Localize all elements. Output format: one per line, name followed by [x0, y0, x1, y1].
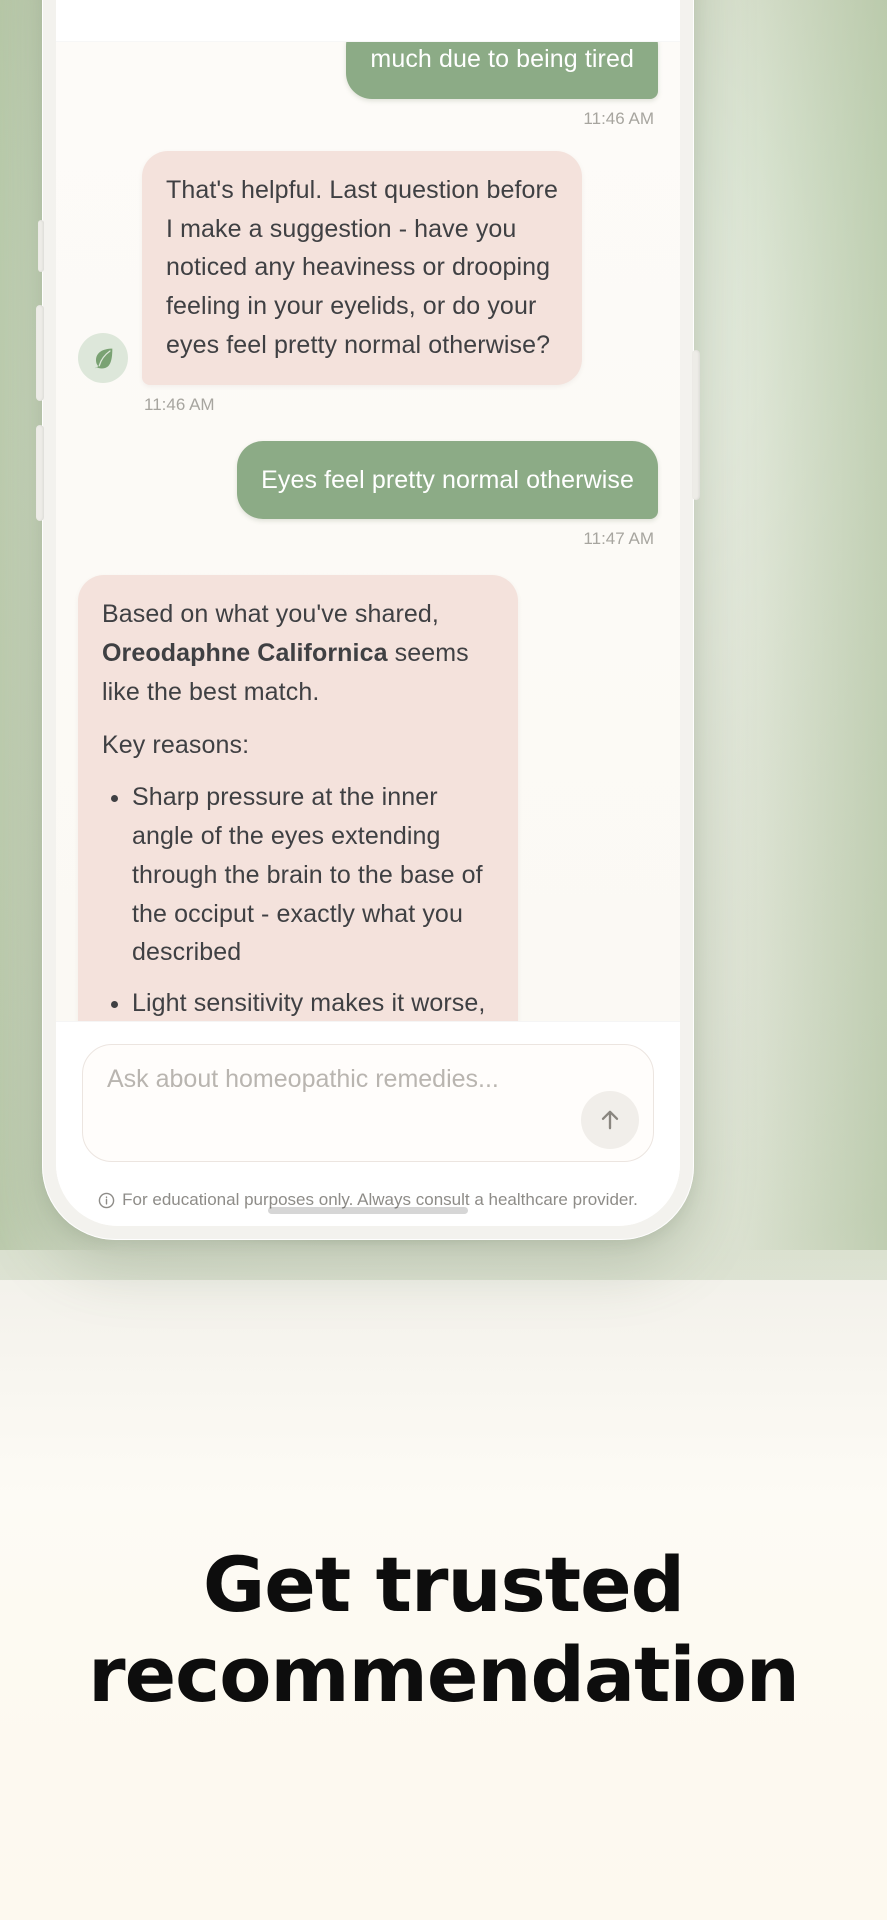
phone-volume-down-button[interactable] — [36, 425, 44, 521]
chat-input-wrapper[interactable]: Ask about homeopathic remedies... — [82, 1044, 654, 1162]
message-composer: Ask about homeopathic remedies... — [56, 1021, 680, 1172]
message-list[interactable]: much due to being tired 11:46 AM That' — [56, 42, 680, 1021]
promo-headline-line2: recommendation — [22, 1630, 865, 1720]
promo-headline: Get trusted recommendation — [0, 1540, 887, 1719]
recommendation-intro-before: Based on what you've shared, — [102, 600, 439, 628]
message-row-user-eyes: Eyes feel pretty normal otherwise — [78, 441, 658, 520]
background-right-shade — [737, 0, 887, 1250]
phone-power-button[interactable] — [692, 350, 700, 500]
recommendation-intro: Based on what you've shared, Oreodaphne … — [102, 595, 494, 711]
message-timestamp: 11:46 AM — [78, 109, 658, 129]
message-timestamp: 11:47 AM — [78, 529, 658, 549]
key-reasons-list: Sharp pressure at the inner angle of the… — [102, 778, 494, 1021]
home-indicator — [268, 1207, 468, 1214]
message-bubble-recommendation[interactable]: Based on what you've shared, Oreodaphne … — [78, 575, 518, 1021]
phone-volume-up-button[interactable] — [36, 305, 44, 401]
phone-mockup: much due to being tired 11:46 AM That' — [42, 0, 694, 1240]
disclaimer-bar: For educational purposes only. Always co… — [56, 1172, 680, 1226]
info-circle-icon — [98, 1192, 115, 1209]
send-button[interactable] — [581, 1091, 639, 1149]
key-reasons-label: Key reasons: — [102, 726, 494, 765]
remedy-name: Oreodaphne Californica — [102, 639, 388, 667]
message-bubble-user[interactable]: Eyes feel pretty normal otherwise — [237, 441, 658, 520]
promo-headline-line1: Get trusted — [22, 1540, 865, 1630]
message-bubble-assistant[interactable]: That's helpful. Last question before I m… — [142, 151, 582, 385]
arrow-up-icon — [596, 1106, 624, 1134]
phone-mute-switch[interactable] — [38, 220, 44, 272]
chat-app-screen: much due to being tired 11:46 AM That' — [56, 0, 680, 1226]
phone-screen-frame: much due to being tired 11:46 AM That' — [56, 0, 680, 1226]
list-item: Sharp pressure at the inner angle of the… — [132, 778, 494, 972]
message-timestamp: 11:46 AM — [78, 395, 658, 415]
message-bubble-user[interactable]: much due to being tired — [346, 42, 658, 99]
message-row-user-tired: much due to being tired — [78, 42, 658, 99]
message-row-bot-recommendation: Based on what you've shared, Oreodaphne … — [78, 575, 658, 1021]
leaf-icon — [78, 333, 128, 383]
list-item: Light sensitivity makes it worse, closin… — [132, 984, 494, 1021]
chat-header — [56, 0, 680, 42]
message-row-bot-question: That's helpful. Last question before I m… — [78, 151, 658, 385]
chat-input-placeholder[interactable]: Ask about homeopathic remedies... — [107, 1065, 629, 1094]
